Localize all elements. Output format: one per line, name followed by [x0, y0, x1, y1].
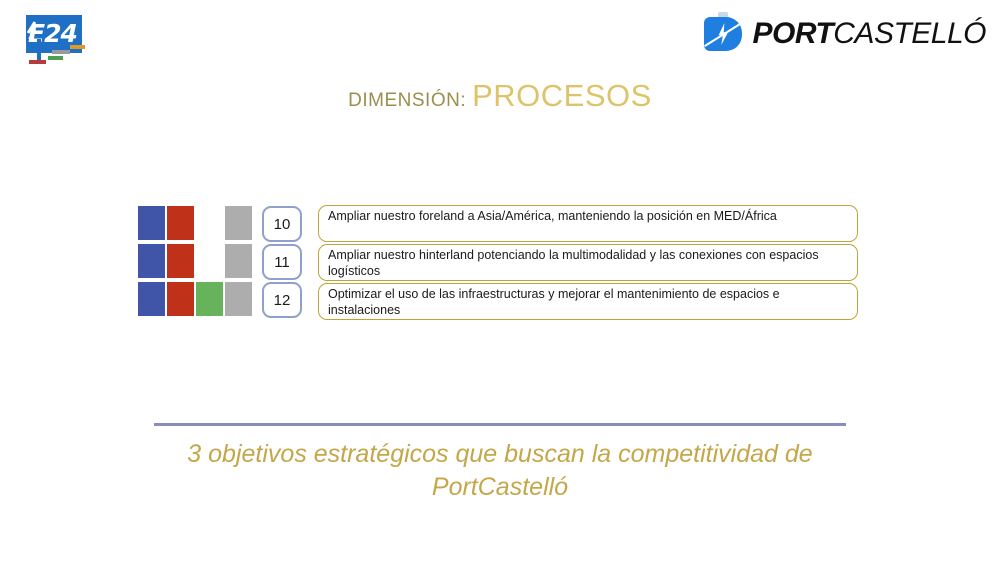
e24-logo: E24 [18, 12, 90, 68]
portcastello-mark-cap [718, 12, 728, 17]
objective-box[interactable]: Optimizar el uso de las infraestructuras… [318, 283, 858, 320]
block-cell-blue [138, 282, 165, 316]
footer-caption: 3 objetivos estratégicos que buscan la c… [150, 438, 850, 504]
lightning-bolt-icon [717, 23, 729, 45]
e24-logo-bar-green [48, 56, 63, 60]
objective-box[interactable]: Ampliar nuestro foreland a Asia/América,… [318, 205, 858, 242]
portcastello-logo: PORTCASTELLÓ [704, 14, 986, 54]
e24-logo-bar-orange [70, 45, 85, 49]
objective-number-chip[interactable]: 12 [262, 282, 302, 318]
objective-number-column: 10 11 12 [262, 206, 302, 318]
e24-logo-stem [37, 39, 41, 61]
block-cell-red [167, 206, 194, 240]
block-cell-red [167, 282, 194, 316]
e24-logo-bar-gray [52, 50, 70, 54]
block-cell-gray [225, 282, 252, 316]
e24-logo-bar-red [29, 60, 46, 64]
objective-number-chip[interactable]: 10 [262, 206, 302, 242]
block-cell-blue [138, 244, 165, 278]
objective-number-chip[interactable]: 11 [262, 244, 302, 280]
page-title-main: PROCESOS [472, 78, 652, 113]
block-cell-blue [138, 206, 165, 240]
page-title: DIMENSIÓN:PROCESOS [0, 78, 1000, 114]
objective-box[interactable]: Ampliar nuestro hinterland potenciando l… [318, 244, 858, 281]
page-title-prefix: DIMENSIÓN: [348, 90, 466, 111]
block-cell-empty [196, 206, 223, 240]
block-cell-red [167, 244, 194, 278]
slide-root: E24 PORTCASTELLÓ DIMENSIÓN:PROCESOS 10 1… [0, 0, 1000, 561]
block-cell-gray [225, 244, 252, 278]
portcastello-bolt-icon [704, 17, 742, 51]
block-cell-gray [225, 206, 252, 240]
block-cell-empty [196, 244, 223, 278]
footer-divider [154, 423, 846, 426]
portcastello-word-port: PORT [752, 17, 833, 50]
portcastello-wordmark: PORTCASTELLÓ [752, 17, 986, 51]
block-cell-green [196, 282, 223, 316]
dimension-block-grid [138, 206, 254, 318]
objective-list: Ampliar nuestro foreland a Asia/América,… [318, 205, 858, 320]
portcastello-word-castello: CASTELLÓ [833, 17, 986, 50]
